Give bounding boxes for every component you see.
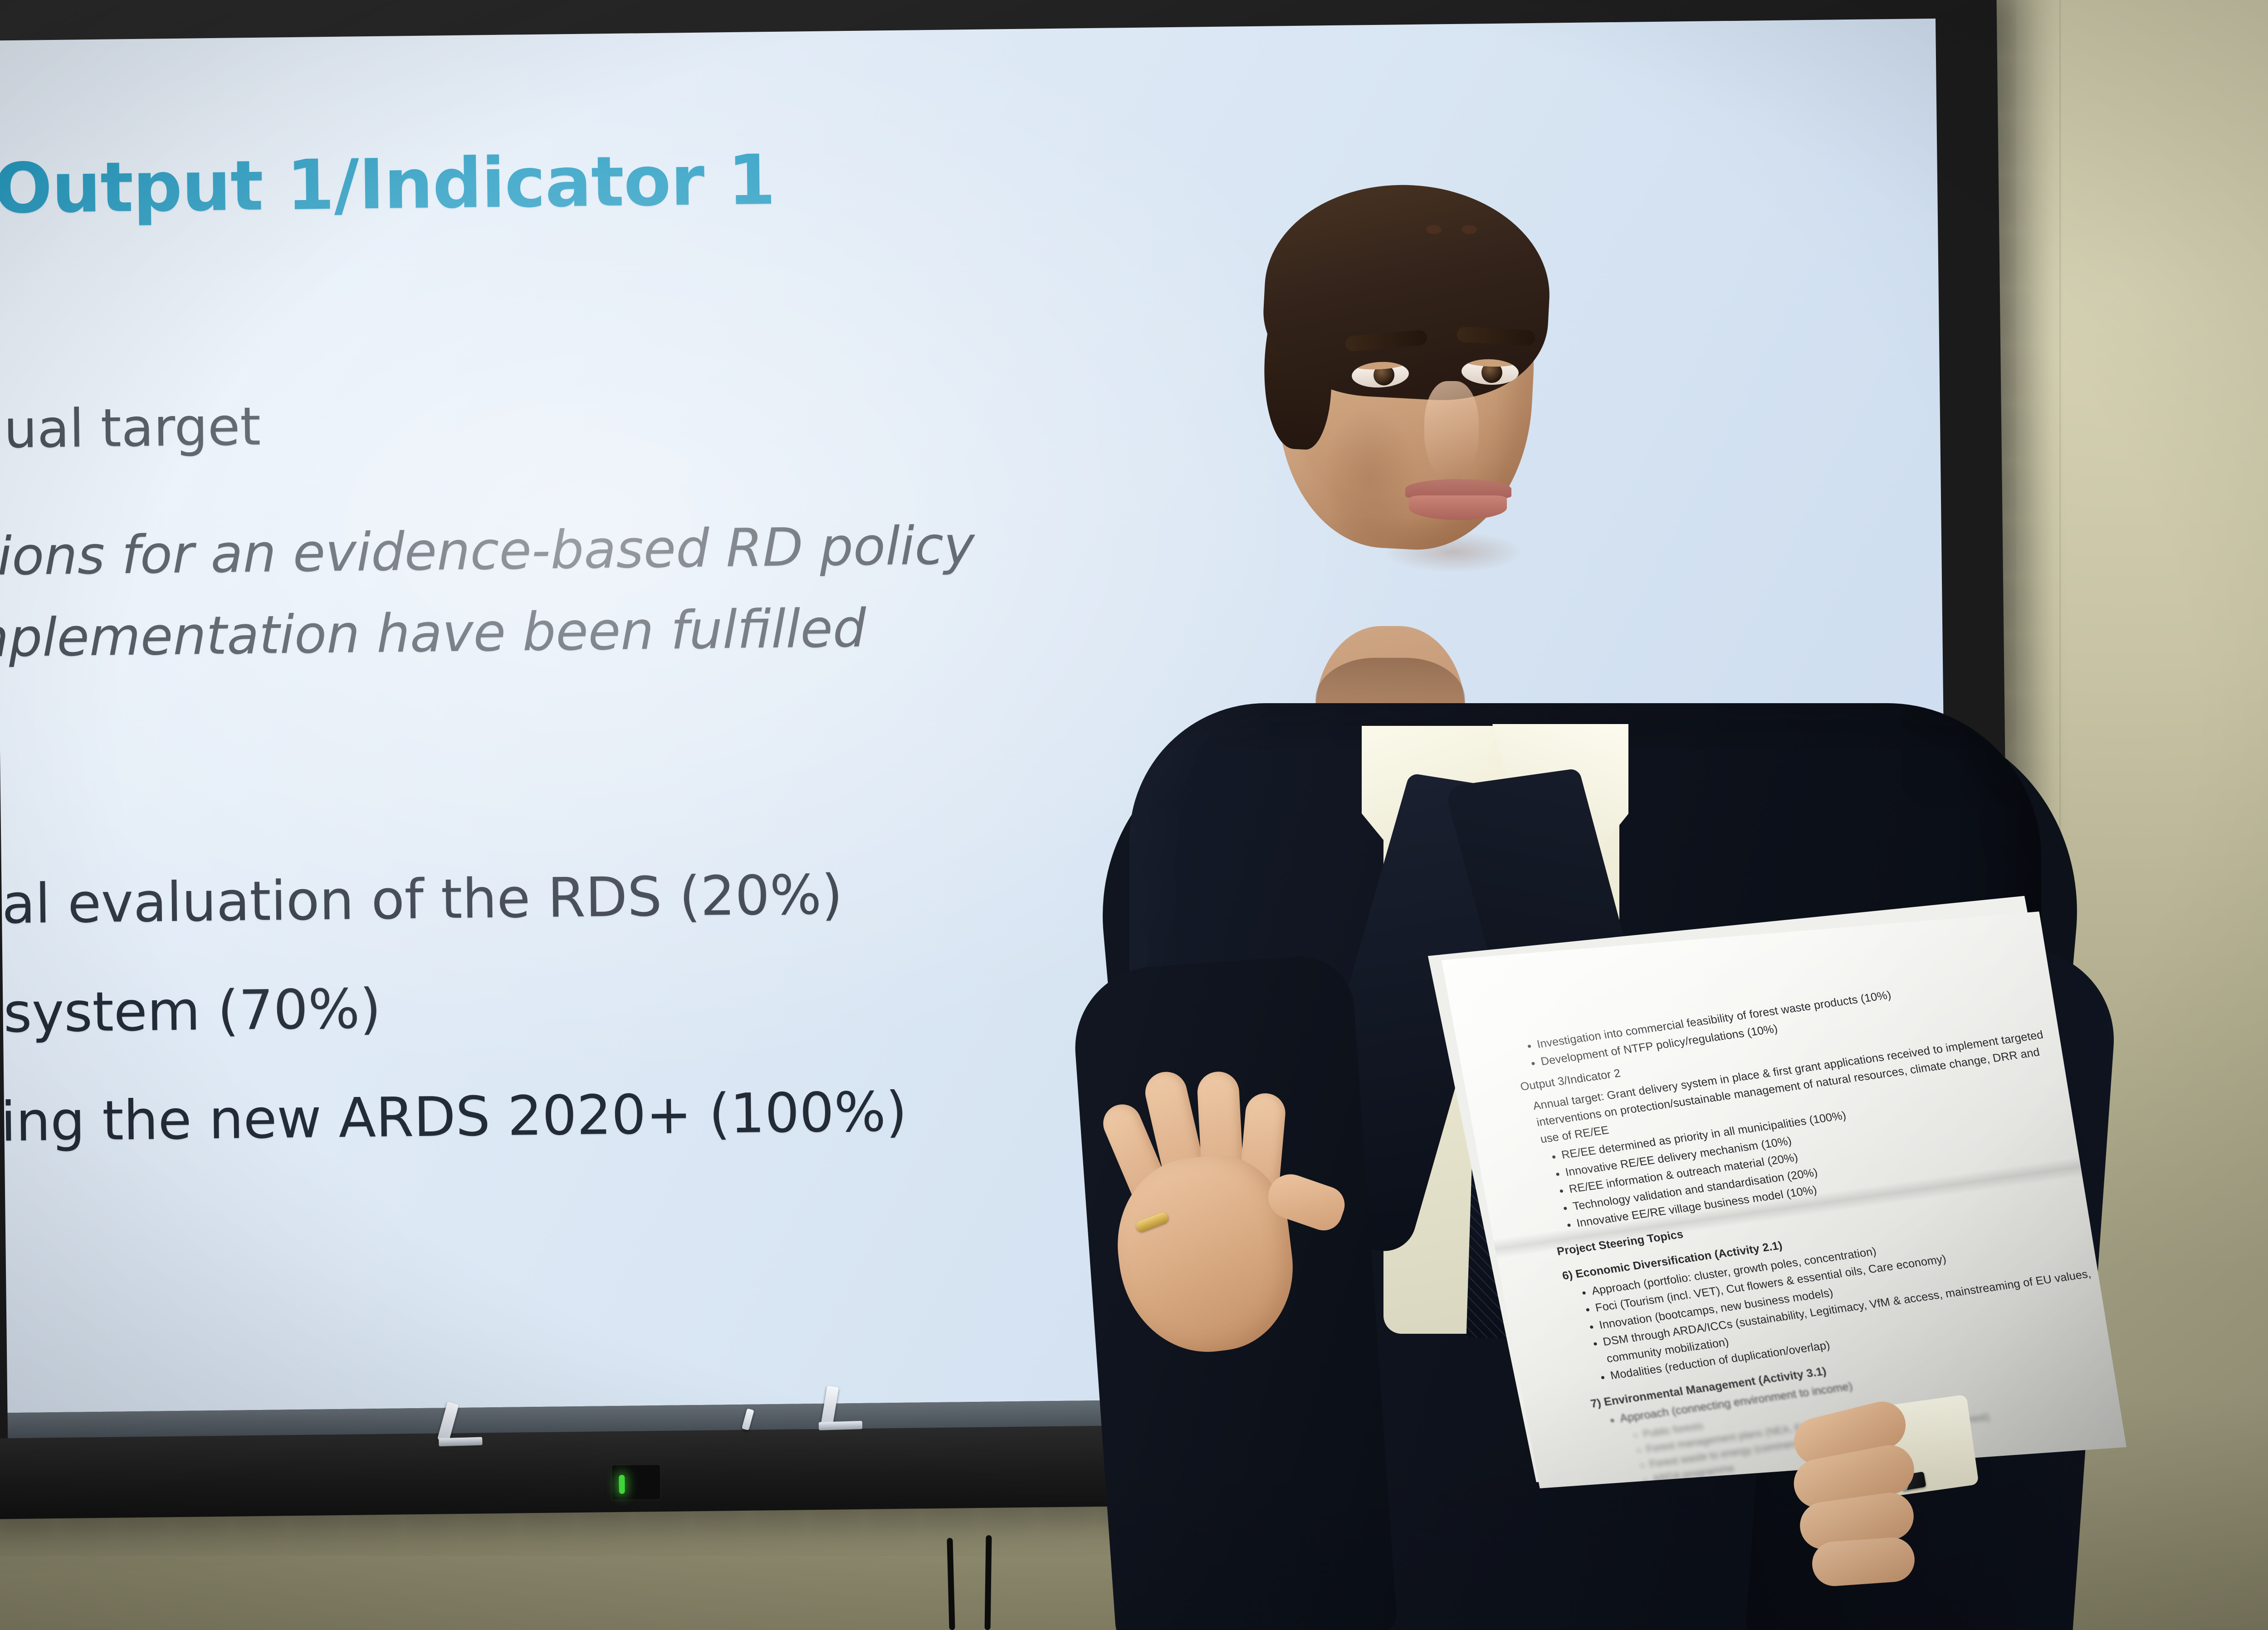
slide-bullet-1: Annual evaluation of the RDS (20%) (0, 863, 843, 938)
slide-bullet-3: Drafting the new ARDS 2020+ (100%) (0, 1081, 907, 1155)
nose (1424, 381, 1479, 481)
cheek-shadow (1325, 408, 1415, 544)
lower-lip (1409, 495, 1507, 520)
slide-line-condition-1: Conditions for an evidence-based RD poli… (0, 515, 975, 589)
chin-shadow (1383, 532, 1524, 573)
slide-line-condition-2: and implementation have been fulfilled (0, 598, 866, 671)
slide-bullet-2: M&E system (70%) (0, 978, 381, 1047)
pen-tray (439, 1437, 482, 1447)
hand-left-open-palm (1055, 1007, 1349, 1380)
hand-right-holding (1786, 1388, 2002, 1620)
power-led-icon (619, 1475, 625, 1494)
slide-title: Output 1/Indicator 1 (0, 140, 776, 229)
finger-little (1811, 1536, 1916, 1588)
presenter: Investigation into commercial feasibilit… (1025, 136, 2136, 1630)
nostril-left (1426, 225, 1442, 234)
slide-line-annual-target: Annual target (0, 396, 261, 461)
pen-tray (819, 1421, 862, 1430)
nostril-right (1461, 225, 1477, 234)
presentation-room-photo: Output 1/Indicator 1 Annual target Condi… (0, 0, 2268, 1630)
eyelid-right (1461, 358, 1519, 367)
